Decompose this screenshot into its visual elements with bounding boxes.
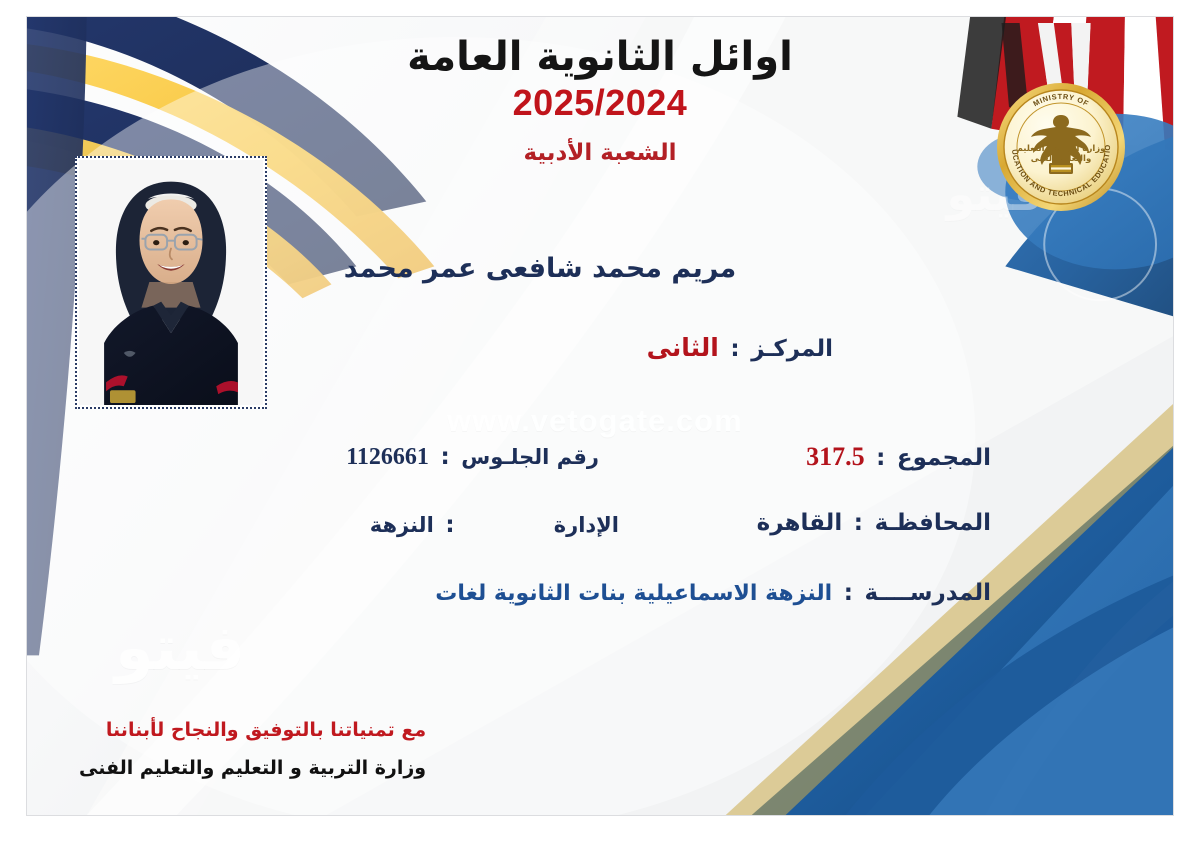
field-seat-number: رقم الجلـوس : 1126661	[346, 444, 599, 471]
field-total-value: 317.5	[806, 442, 865, 472]
field-rank-label: المركـز	[751, 336, 833, 362]
field-governorate: المحافظـة : القاهرة	[757, 510, 991, 536]
field-administration-value: النزهة	[370, 513, 434, 537]
field-school: المدرســــة : النزهة الاسماعيلية بنات ال…	[435, 580, 991, 606]
certificate-footer: مع تمنياتنا بالتوفيق والنجاح لأبناننا وز…	[79, 719, 426, 779]
field-seat-number-label: رقم الجلـوس	[461, 445, 599, 469]
certificate-card: www.vetogate.com فيتو فيتو	[26, 16, 1174, 816]
footer-wish-text: مع تمنياتنا بالتوفيق والنجاح لأبناننا	[79, 719, 426, 741]
academic-year: 2025/2024	[27, 82, 1173, 124]
student-name: مريم محمد شافعى عمر محمد	[27, 253, 1173, 284]
field-rank: المركـز : الثانى	[647, 333, 833, 362]
field-governorate-separator: :	[848, 510, 869, 536]
field-administration: الإدارة : النزهة	[370, 512, 619, 538]
field-administration-separator: :	[439, 512, 460, 538]
field-total-label: المجموع	[897, 445, 991, 471]
field-school-label: المدرســــة	[865, 580, 991, 606]
field-school-value: النزهة الاسماعيلية بنات الثانوية لغات	[435, 581, 832, 606]
page-title: اوائل الثانوية العامة	[27, 35, 1173, 80]
watermark-brand: فيتو	[115, 611, 245, 684]
field-rank-value: الثانى	[647, 333, 719, 362]
field-administration-label: الإدارة	[554, 513, 619, 537]
field-rank-separator: :	[724, 336, 745, 362]
footer-ministry-text: وزارة التربية و التعليم والتعليم الفنى	[79, 757, 426, 779]
field-total-separator: :	[870, 445, 891, 471]
watermark-url: www.vetogate.com	[447, 403, 743, 439]
field-governorate-label: المحافظـة	[875, 510, 991, 536]
field-governorate-value: القاهرة	[757, 510, 843, 536]
certificate-header: اوائل الثانوية العامة 2025/2024 الشعبة ا…	[27, 35, 1173, 166]
field-school-separator: :	[838, 580, 859, 606]
field-total: المجموع : 317.5	[806, 442, 991, 472]
field-seat-number-value: 1126661	[346, 444, 429, 471]
field-seat-number-separator: :	[434, 444, 455, 470]
